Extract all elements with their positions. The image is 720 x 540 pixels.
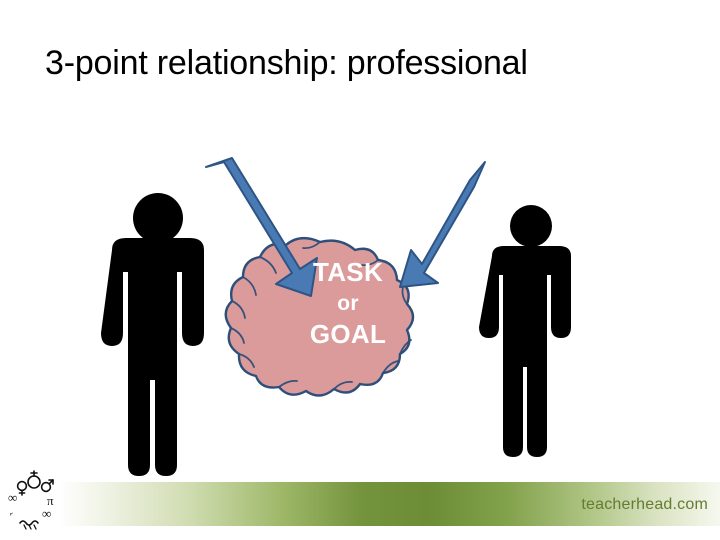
- slide-canvas: 3-point relationship: professional: [0, 0, 720, 540]
- relationship-diagram: TASK or GOAL: [0, 90, 720, 400]
- page-title: 3-point relationship: professional: [45, 42, 685, 84]
- slide-footer: π ∞ ∞ 𝃫 teacherhead.com: [0, 460, 720, 540]
- bass-clef-symbol: 𝃫: [10, 508, 14, 524]
- person-right-body: [479, 246, 571, 457]
- footer-website-link[interactable]: teacherhead.com: [581, 496, 708, 514]
- wave-ticks: [24, 525, 36, 529]
- arrow-right-shape: [400, 162, 485, 287]
- arrow-right-to-cloud[interactable]: [400, 162, 485, 287]
- infinity-symbol-right: ∞: [42, 506, 51, 521]
- person-left-head: [133, 193, 183, 243]
- infinity-symbol-left: ∞: [8, 490, 17, 505]
- person-left-body: [101, 238, 204, 476]
- cloud-shape[interactable]: [226, 238, 413, 395]
- cloud-outline: [226, 238, 413, 395]
- person-right-head: [510, 205, 552, 247]
- teacherhead-logo-icon: π ∞ ∞ 𝃫: [6, 468, 66, 532]
- person-left-figure[interactable]: [101, 193, 204, 476]
- person-right-figure[interactable]: [479, 205, 571, 457]
